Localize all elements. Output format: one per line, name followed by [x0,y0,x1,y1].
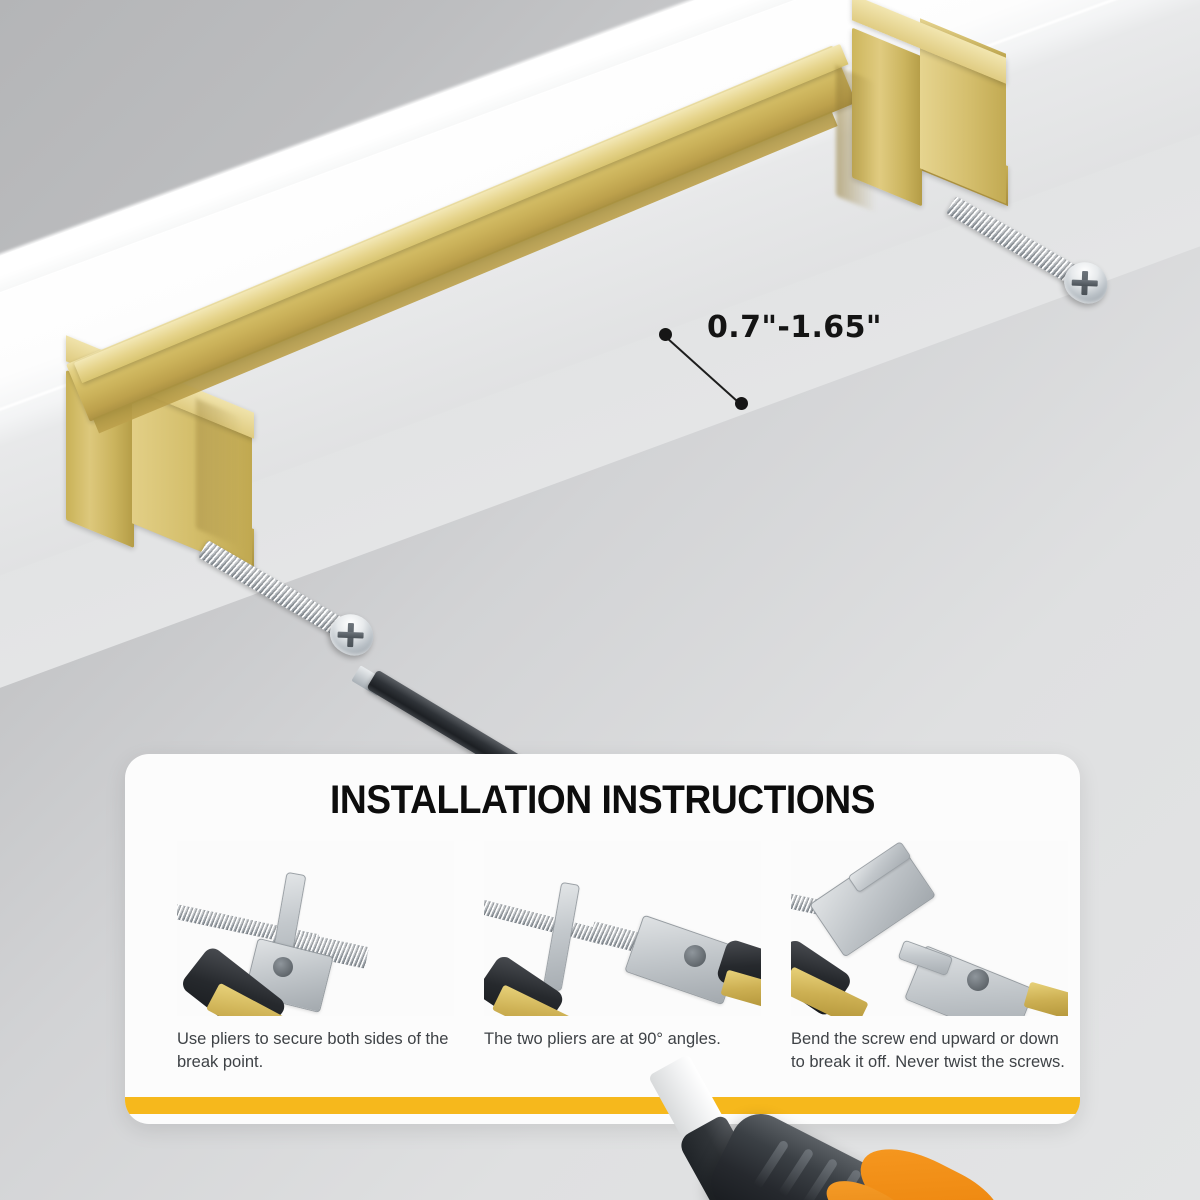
pliers-gripping-screw-photo [177,841,454,1016]
instruction-step: The two pliers are at 90° angles. [484,841,761,1074]
handle-grip-bar-underside [93,111,838,433]
phillips-slot-horizontal [337,632,363,639]
step-caption: Bend the screw end upward or down to bre… [791,1028,1068,1074]
two-pliers-perpendicular-photo [484,841,761,1016]
plier-pivot-right-art [684,945,706,967]
handle-left-elbow-shading [196,399,242,548]
steps-row: Use pliers to secure both sides of the b… [125,823,1080,1074]
dimension-label: 0.7"-1.65" [707,310,882,345]
cabinet-handle [0,0,1200,760]
dimension-dot-bottom [735,397,748,410]
dimension-dot-top [659,328,672,341]
installation-instructions-card: INSTALLATION INSTRUCTIONS Use pliers to … [125,754,1080,1124]
card-title: INSTALLATION INSTRUCTIONS [158,778,1046,823]
step-caption: The two pliers are at 90° angles. [484,1028,761,1051]
product-instruction-image: 0.7"-1.65" INSTALLATION INSTRUCTIONS Use… [0,0,1200,1200]
instruction-step: Use pliers to secure both sides of the b… [177,841,454,1074]
card-accent-bar [125,1097,1080,1114]
plier-pivot-art [967,969,989,991]
pliers-bending-screw-photo [791,841,1068,1016]
step-caption: Use pliers to secure both sides of the b… [177,1028,454,1074]
plier-pivot-art [273,957,293,977]
phillips-slot-horizontal [1072,280,1098,287]
instruction-step: Bend the screw end upward or down to bre… [791,841,1068,1074]
handle-right-elbow-shading [836,66,876,212]
